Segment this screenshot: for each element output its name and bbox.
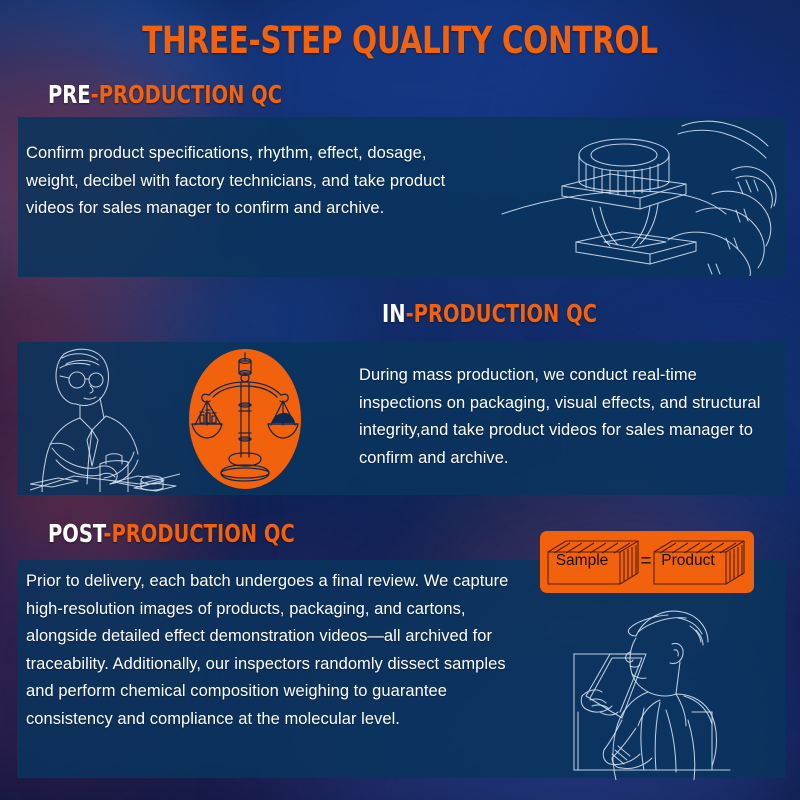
sample-box: Sample xyxy=(546,539,642,586)
section-heading-in-production: IN-PRODUCTION QC xyxy=(382,301,597,326)
heading-prefix: IN xyxy=(382,299,406,328)
panel-in-production-body: During mass production, we conduct real-… xyxy=(359,362,784,472)
panel-post-production-body: Prior to delivery, each batch undergoes … xyxy=(26,568,531,733)
balance-scale-icon xyxy=(189,349,301,489)
page-title: THREE-STEP QUALITY CONTROL xyxy=(80,22,720,59)
sample-box-label: Sample xyxy=(546,551,618,571)
heading-suffix: -PRODUCTION QC xyxy=(103,519,294,548)
balance-scale-badge xyxy=(189,349,301,489)
section-heading-pre-production: PRE-PRODUCTION QC xyxy=(48,82,282,107)
section-heading-post-production: POST-PRODUCTION QC xyxy=(48,521,295,546)
heading-suffix: -PRODUCTION QC xyxy=(91,80,282,109)
product-box-label: Product xyxy=(652,551,724,571)
heading-prefix: PRE xyxy=(48,80,91,109)
panel-pre-production-body: Confirm product specifications, rhythm, … xyxy=(26,140,476,223)
infographic-root: THREE-STEP QUALITY CONTROL PRE-PRODUCTIO… xyxy=(0,0,800,800)
product-box: Product xyxy=(652,539,748,586)
heading-prefix: POST xyxy=(48,519,103,548)
sample-equals-product-badge: Sample = Product xyxy=(540,531,754,593)
heading-suffix: -PRODUCTION QC xyxy=(406,299,597,328)
